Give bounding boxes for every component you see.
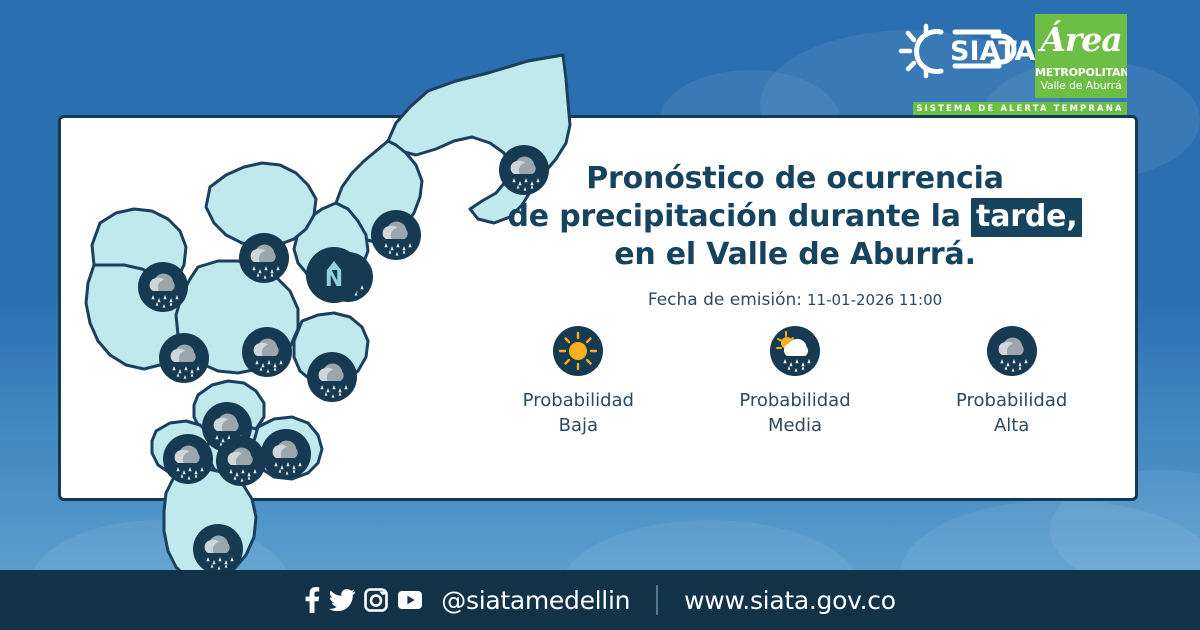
- siata-logo: SIATA: [895, 18, 1035, 98]
- title-line-2: de precipitación durante la tarde,: [470, 198, 1120, 236]
- legend-label: ProbabilidadAlta: [927, 388, 1097, 438]
- svg-text:SIATA: SIATA: [950, 36, 1035, 67]
- twitter-icon[interactable]: [329, 589, 355, 611]
- title-line-1: Pronóstico de ocurrencia: [470, 160, 1120, 198]
- social-icon-group: [304, 586, 423, 614]
- legend-label-line1: Probabilidad: [927, 388, 1097, 413]
- legend-item-alta: ProbabilidadAlta: [927, 325, 1097, 438]
- legend-item-baja: ProbabilidadBaja: [493, 325, 663, 438]
- footer-bar: @siatamedellin www.siata.gov.co: [0, 570, 1200, 630]
- legend-label-line2: Baja: [493, 413, 663, 438]
- legend-label-line2: Alta: [927, 413, 1097, 438]
- cloud-rain-icon-wrapper: [986, 325, 1038, 377]
- youtube-icon[interactable]: [397, 590, 423, 610]
- title-highlight-periodo: tarde,: [971, 198, 1082, 237]
- area-logo-script: Área: [1035, 14, 1127, 66]
- compass-label: N: [325, 271, 343, 289]
- legend-label: ProbabilidadMedia: [710, 388, 880, 438]
- cloud-rain-icon: [986, 325, 1038, 377]
- sun-icon-wrapper: [552, 325, 604, 377]
- sun-cloud-rain-icon: [769, 325, 821, 377]
- compass-rose-icon: N: [306, 247, 362, 303]
- issue-date-row: Fecha de emisión:11-01-2026 11:00: [470, 290, 1120, 310]
- infographic-root: SIATA Área METROPOLITANA Valle de Aburrá…: [0, 0, 1200, 630]
- issue-date-value: 11-01-2026 11:00: [807, 291, 942, 309]
- title-line-3: en el Valle de Aburrá.: [470, 236, 1120, 274]
- facebook-icon[interactable]: [304, 586, 320, 614]
- probability-legend: ProbabilidadBajaProbabilidadMediaProbabi…: [470, 325, 1120, 438]
- legend-label-line1: Probabilidad: [493, 388, 663, 413]
- area-metropolitana-logo: Área METROPOLITANA Valle de Aburrá: [1035, 14, 1127, 98]
- forecast-panel: Pronóstico de ocurrencia de precipitació…: [470, 160, 1120, 310]
- sun-icon: [552, 325, 604, 377]
- website-url[interactable]: www.siata.gov.co: [684, 586, 896, 615]
- legend-item-media: ProbabilidadMedia: [710, 325, 880, 438]
- sun-cloud-rain-icon-wrapper: [769, 325, 821, 377]
- issue-date-label: Fecha de emisión:: [648, 290, 802, 310]
- legend-label-line1: Probabilidad: [710, 388, 880, 413]
- logo-group: SIATA Área METROPOLITANA Valle de Aburrá…: [895, 14, 1135, 109]
- legend-label-line2: Media: [710, 413, 880, 438]
- title-line-2-text: de precipitación durante la: [508, 199, 961, 234]
- legend-label: ProbabilidadBaja: [493, 388, 663, 438]
- area-logo-line1: METROPOLITANA: [1035, 66, 1127, 79]
- area-logo-line2: Valle de Aburrá: [1035, 79, 1127, 92]
- page-title: Pronóstico de ocurrencia de precipitació…: [470, 160, 1120, 274]
- social-handle[interactable]: @siatamedellin: [441, 586, 630, 615]
- instagram-icon[interactable]: [364, 588, 388, 612]
- footer-divider: [656, 585, 658, 615]
